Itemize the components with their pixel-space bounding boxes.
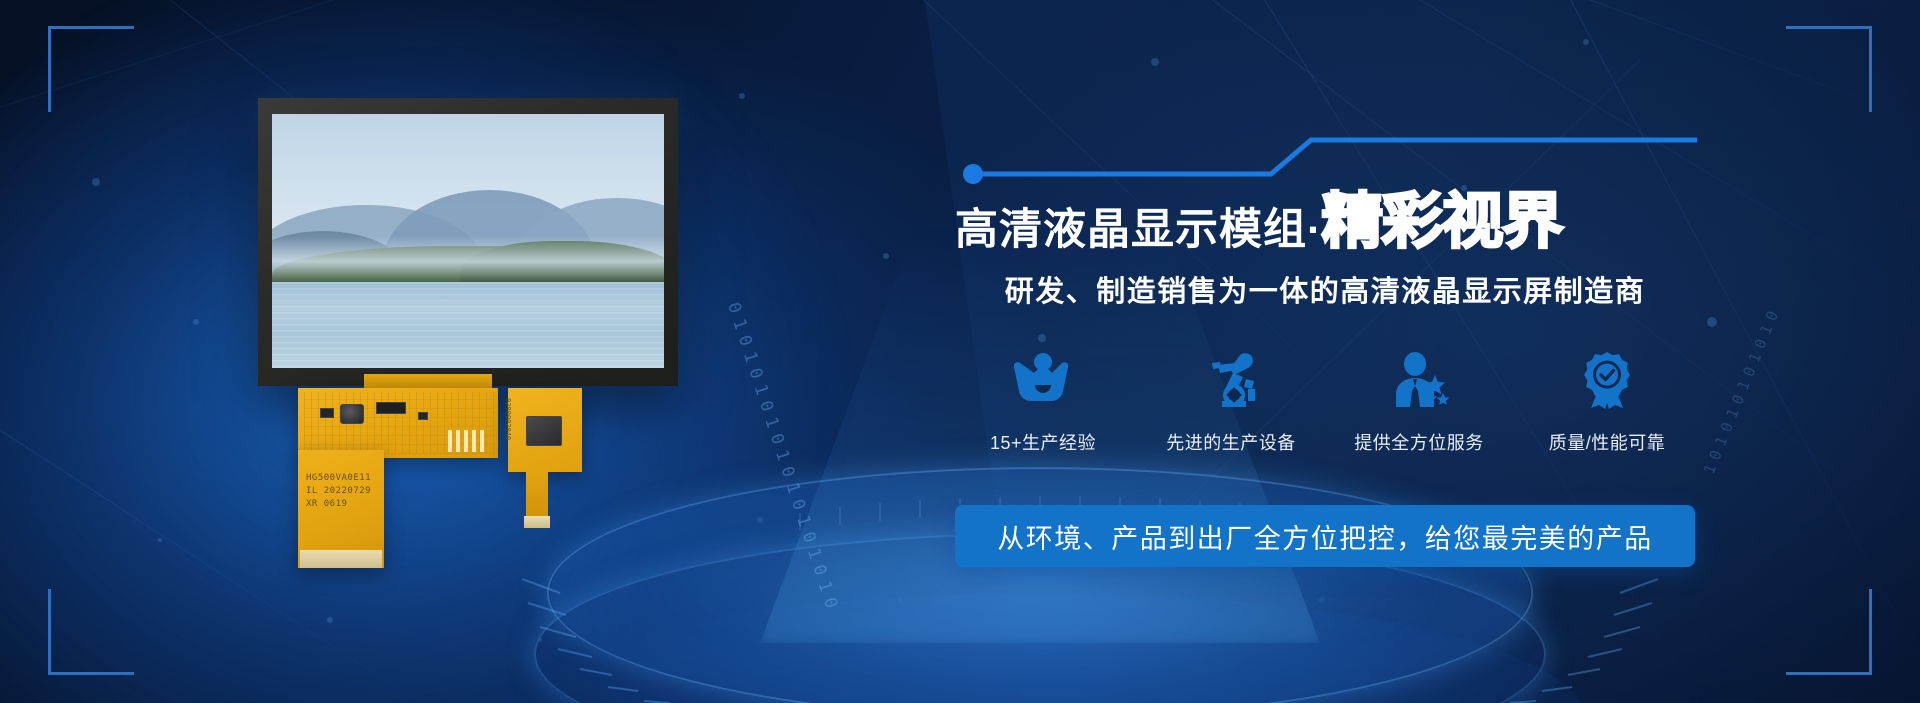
fpc-connector [300, 550, 382, 568]
binary-strip-2: 101010101010 [1700, 303, 1784, 477]
feature-label: 提供全方位服务 [1354, 429, 1484, 455]
feature-item-service: 提供全方位服务 [1331, 345, 1507, 455]
headline-prefix: 高清液晶显示模组· [955, 209, 1322, 252]
award-badge-icon [1576, 345, 1638, 415]
fpc-chip-ic [376, 402, 406, 414]
page-subtitle: 研发、制造销售为一体的高清液晶显示屏制造商 [955, 268, 1695, 310]
fpc-chip-small-1 [320, 408, 334, 418]
cta-text: 从环境、产品到出厂全方位把控，给您最完美的产品 [997, 517, 1653, 556]
feature-item-quality: 质量/性能可靠 [1519, 345, 1695, 455]
fpc-chip-small-2 [418, 412, 428, 420]
service-person-icon [1388, 345, 1450, 415]
page-title: 高清液晶显示模组· 精彩视界 [955, 180, 1695, 252]
fpc-marking-line-2: IL 20220729 [306, 485, 386, 498]
crown-icon [1012, 345, 1074, 415]
headline-accent: 精彩视界 [1322, 192, 1563, 252]
fpc-touch-marking: 0200002040 [504, 398, 512, 440]
feature-list: 15+生产经验 [955, 345, 1695, 455]
headline-decor-line [959, 130, 1697, 186]
feature-item-experience: 15+生产经验 [955, 345, 1131, 455]
fpc-chip-main [340, 404, 364, 424]
feature-item-equipment: 先进的生产设备 [1143, 345, 1319, 455]
fpc-marking-text: HG500VA0E11 IL 20220729 XR 0619 [306, 472, 386, 511]
fpc-marking-line-3: XR 0619 [306, 498, 386, 511]
robot-arm-icon [1200, 345, 1262, 415]
lcd-display-module: HG500VA0E11 IL 20220729 XR 0619 02000020… [258, 98, 678, 578]
fpc-marking-line-1: HG500VA0E11 [306, 472, 386, 485]
corner-bracket-top-left [48, 26, 134, 112]
banner-content: 高清液晶显示模组· 精彩视界 研发、制造销售为一体的高清液晶显示屏制造商 15+… [955, 0, 1695, 703]
headline-accent-part-1: 精彩 [1322, 188, 1442, 255]
fpc-gold-pads [448, 430, 484, 452]
fpc-touch-tail [526, 470, 548, 522]
corner-bracket-bottom-right [1786, 589, 1872, 675]
corner-bracket-top-right [1786, 26, 1872, 112]
fpc-touch-chip [526, 416, 562, 446]
lcd-bezel [258, 98, 678, 386]
hero-banner: 0101010101010101010 101010101010 HG500VA… [0, 0, 1920, 703]
feature-label: 15+生产经验 [990, 429, 1096, 455]
feature-label: 质量/性能可靠 [1549, 429, 1666, 455]
lcd-screen-image [272, 114, 664, 368]
headline-accent-part-3: 界 [1503, 188, 1563, 255]
cta-banner[interactable]: 从环境、产品到出厂全方位把控，给您最完美的产品 [955, 505, 1695, 567]
feature-label: 先进的生产设备 [1166, 429, 1296, 455]
fpc-touch-connector [524, 516, 550, 528]
headline-accent-part-2: 视 [1442, 188, 1502, 255]
corner-bracket-bottom-left [48, 589, 134, 675]
